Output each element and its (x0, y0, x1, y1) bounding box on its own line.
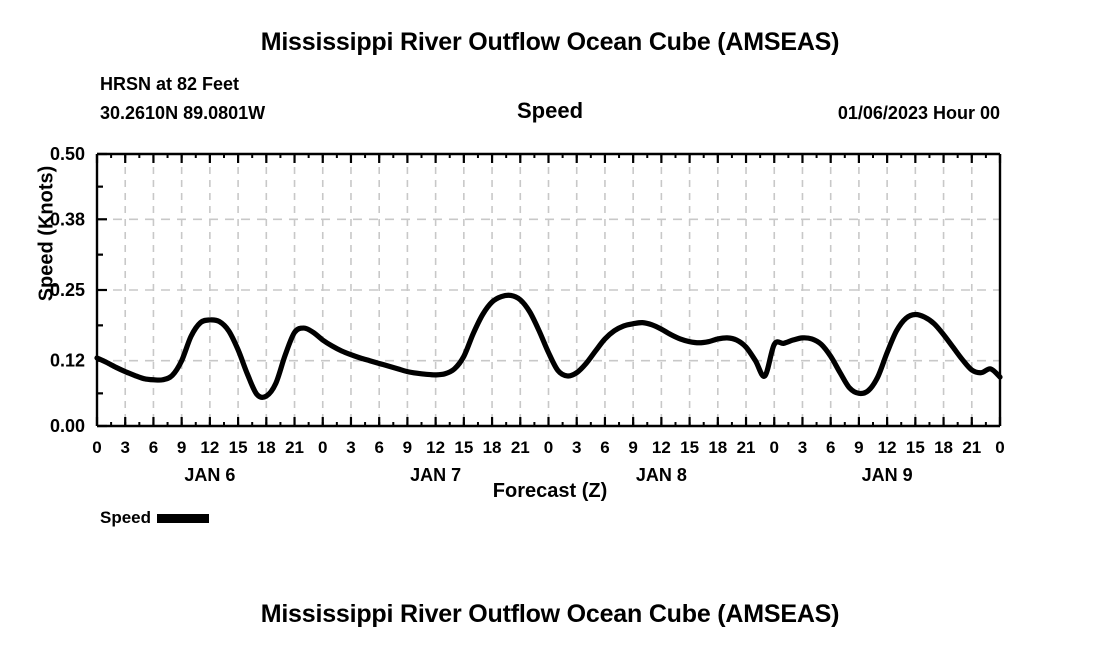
gridlines (97, 154, 1000, 426)
svg-text:12: 12 (200, 438, 219, 457)
svg-text:6: 6 (826, 438, 835, 457)
chart-page: Mississippi River Outflow Ocean Cube (AM… (0, 0, 1100, 650)
x-tick-labels: 0369121518210369121518210369121518210369… (92, 438, 1004, 457)
svg-text:21: 21 (285, 438, 304, 457)
svg-text:9: 9 (403, 438, 412, 457)
svg-text:3: 3 (798, 438, 807, 457)
svg-text:12: 12 (878, 438, 897, 457)
svg-text:21: 21 (962, 438, 981, 457)
svg-text:18: 18 (708, 438, 727, 457)
svg-text:9: 9 (177, 438, 186, 457)
svg-text:6: 6 (600, 438, 609, 457)
svg-text:15: 15 (906, 438, 925, 457)
svg-text:12: 12 (652, 438, 671, 457)
svg-text:0.25: 0.25 (50, 280, 85, 300)
footer-title: Mississippi River Outflow Ocean Cube (AM… (0, 600, 1100, 629)
y-tick-labels: 0.000.120.250.380.50 (50, 144, 85, 436)
svg-text:0: 0 (995, 438, 1004, 457)
svg-text:0: 0 (318, 438, 327, 457)
svg-text:15: 15 (454, 438, 473, 457)
svg-text:12: 12 (426, 438, 445, 457)
legend-line-swatch (157, 514, 209, 523)
svg-text:15: 15 (229, 438, 248, 457)
svg-text:3: 3 (120, 438, 129, 457)
day-labels: JAN 6JAN 7JAN 8JAN 9 (184, 465, 912, 485)
svg-text:6: 6 (374, 438, 383, 457)
legend-label: Speed (100, 508, 151, 528)
speed-time-series-chart: 0.000.120.250.380.50 0369121518210369121… (0, 0, 1100, 500)
svg-text:9: 9 (628, 438, 637, 457)
svg-text:3: 3 (346, 438, 355, 457)
svg-text:15: 15 (680, 438, 699, 457)
svg-text:0: 0 (544, 438, 553, 457)
svg-text:6: 6 (149, 438, 158, 457)
svg-text:JAN 9: JAN 9 (862, 465, 913, 485)
legend: Speed (100, 508, 209, 528)
svg-text:JAN 8: JAN 8 (636, 465, 687, 485)
svg-text:21: 21 (737, 438, 756, 457)
svg-text:0.12: 0.12 (50, 351, 85, 371)
svg-text:9: 9 (854, 438, 863, 457)
svg-text:18: 18 (934, 438, 953, 457)
svg-text:21: 21 (511, 438, 530, 457)
svg-text:0: 0 (92, 438, 101, 457)
svg-text:0.00: 0.00 (50, 416, 85, 436)
svg-text:0.50: 0.50 (50, 144, 85, 164)
svg-text:0: 0 (770, 438, 779, 457)
svg-text:3: 3 (572, 438, 581, 457)
svg-text:0.38: 0.38 (50, 209, 85, 229)
svg-text:JAN 6: JAN 6 (184, 465, 235, 485)
svg-text:18: 18 (257, 438, 276, 457)
svg-text:18: 18 (483, 438, 502, 457)
svg-text:JAN 7: JAN 7 (410, 465, 461, 485)
